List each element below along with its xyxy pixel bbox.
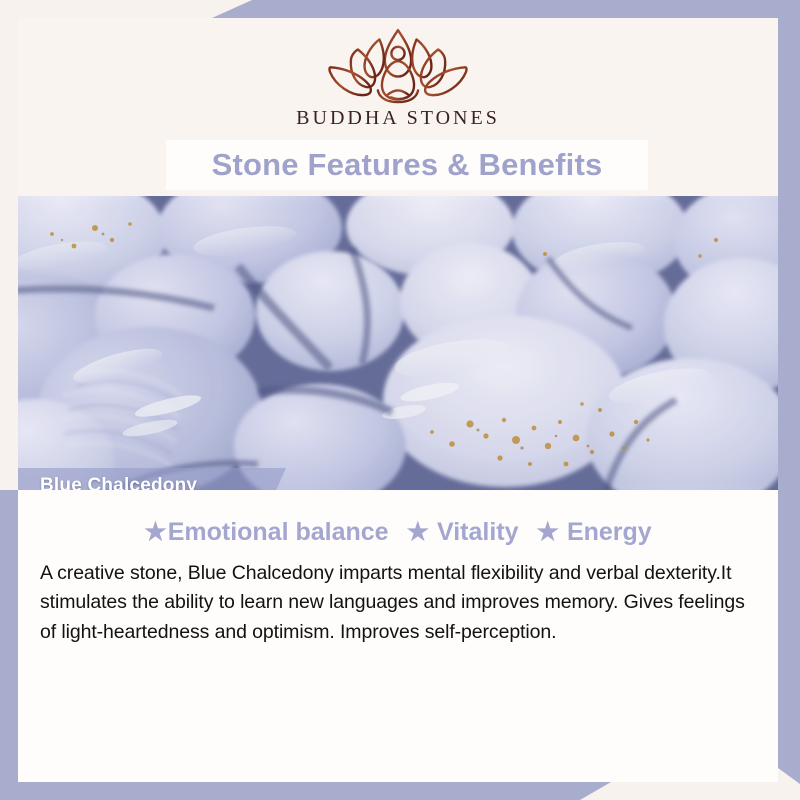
feature-item-energy: ★ Energy (537, 518, 652, 547)
border-band-right (778, 0, 800, 784)
feature-label: Emotional balance (168, 518, 389, 547)
hero-image: Blue Chalcedony (18, 196, 778, 490)
title-banner: Stone Features & Benefits (166, 140, 648, 190)
feature-item-vitality: ★ Vitality (407, 518, 519, 547)
poster-frame: BUDDHA STONES Stone Features & Benefits (0, 0, 800, 800)
feature-item-emotional-balance: ★ Emotional balance (144, 518, 388, 547)
brand-header: BUDDHA STONES (18, 18, 778, 138)
feature-label: Energy (567, 518, 652, 547)
border-band-top (212, 0, 800, 18)
page-title: Stone Features & Benefits (212, 147, 603, 183)
lotus-meditation-icon (313, 24, 483, 106)
border-band-left (0, 490, 18, 800)
star-icon: ★ (537, 520, 559, 545)
poster-page: BUDDHA STONES Stone Features & Benefits (18, 18, 778, 782)
stone-name-label: Blue Chalcedony (18, 468, 286, 490)
stone-description: A creative stone, Blue Chalcedony impart… (40, 559, 756, 647)
star-icon: ★ (144, 520, 166, 545)
feature-list: ★ Emotional balance ★ Vitality ★ Energy (18, 490, 778, 547)
stone-name-text: Blue Chalcedony (40, 475, 197, 490)
star-icon: ★ (407, 520, 429, 545)
blue-chalcedony-photo (18, 196, 778, 490)
brand-name: BUDDHA STONES (296, 107, 500, 130)
brand-logo: BUDDHA STONES (18, 24, 778, 130)
content-section: ★ Emotional balance ★ Vitality ★ Energy … (18, 490, 778, 782)
feature-label: Vitality (437, 518, 519, 547)
